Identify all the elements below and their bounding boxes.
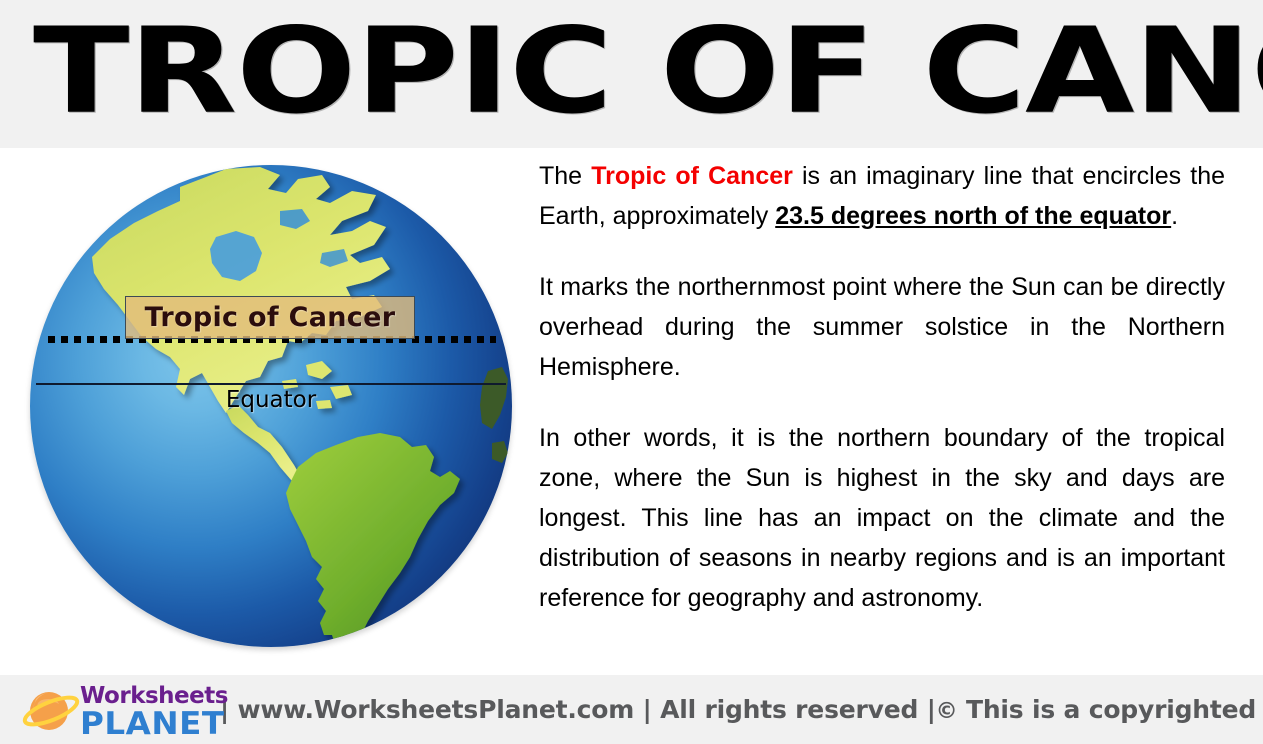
p1-run-1-tropic-of-cancer: Tropic of Cancer [591,162,793,190]
p1-run-4: . [1171,202,1178,230]
logo-line-worksheets: Worksheets [80,685,228,708]
p2-run-0: It marks the northernmost point where th… [539,273,1225,381]
footer-rights: All rights reserved [660,695,918,724]
page-footer: Worksheets PLANET | www.WorksheetsPlanet… [0,675,1263,744]
footer-sep-3: | [927,695,936,724]
p3-run-0: In other words, it is the northern bound… [539,424,1225,612]
earth-globe-illustration: Tropic of Cancer Equator [30,165,512,647]
footer-credit-line: | www.WorksheetsPlanet.com | All rights … [220,695,1263,724]
planet-icon [22,683,80,737]
footer-copyright-notice: This is a copyrighted material [966,695,1263,724]
logo-line-planet: PLANET [80,709,235,740]
paragraph-1: The Tropic of Cancer is an imaginary lin… [539,156,1225,236]
article-text-column: The Tropic of Cancer is an imaginary lin… [539,156,1225,618]
p1-run-0: The [539,162,591,190]
footer-sep-2: | [643,695,652,724]
tropic-of-cancer-label: Tropic of Cancer [145,302,396,333]
page-header: TROPIC OF CANCER [0,0,1263,148]
south-america-landmass [286,433,460,647]
worksheet-page: TROPIC OF CANCER [0,0,1263,744]
p1-run-3-degrees-north: 23.5 degrees north of the equator [775,202,1171,230]
page-content: Tropic of Cancer Equator The Tropic of C… [0,148,1263,675]
north-america-landmass [92,167,390,413]
tropic-of-cancer-label-box: Tropic of Cancer [125,296,415,339]
equator-label: Equator [30,387,512,413]
logo-wordmark: Worksheets PLANET [80,685,228,740]
copyright-icon: © [936,699,958,724]
equator-line [36,383,506,385]
footer-website[interactable]: www.WorksheetsPlanet.com [237,695,634,724]
page-title: TROPIC OF CANCER [33,11,1263,133]
worksheets-planet-logo[interactable]: Worksheets PLANET [22,683,200,737]
paragraph-2: It marks the northernmost point where th… [539,267,1225,387]
paragraph-3: In other words, it is the northern bound… [539,418,1225,618]
